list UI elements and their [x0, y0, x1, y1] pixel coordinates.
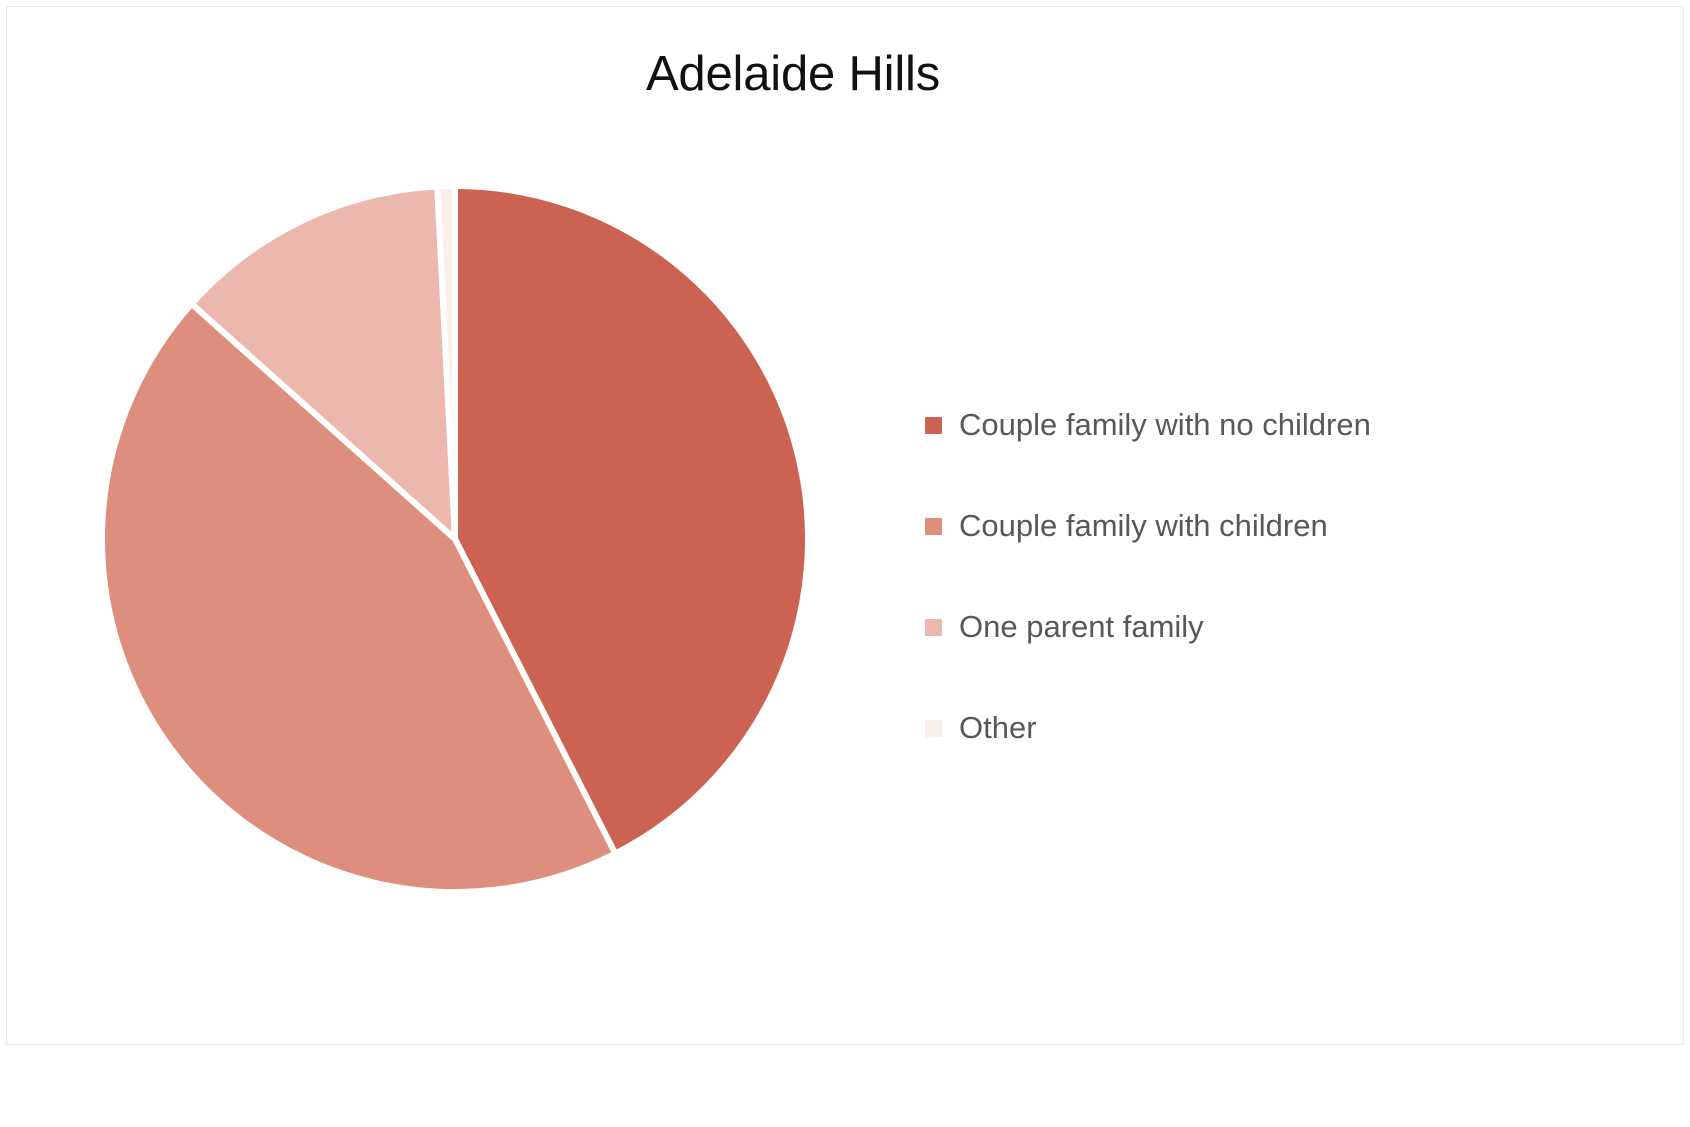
legend-swatch-icon	[925, 619, 942, 636]
chart-legend: Couple family with no childrenCouple fam…	[925, 375, 1565, 779]
chart-canvas: Adelaide Hills Couple family with no chi…	[6, 6, 1684, 1045]
chart-page: Adelaide Hills Couple family with no chi…	[0, 0, 1690, 1127]
chart-title: Adelaide Hills	[7, 45, 1579, 104]
pie-chart-plot-area: Couple family with no childrenCouple fam…	[100, 184, 810, 894]
legend-item[interactable]: One parent family	[925, 577, 1565, 678]
legend-item[interactable]: Couple family with no children	[925, 375, 1565, 476]
pie-chart-svg: Couple family with no childrenCouple fam…	[100, 184, 810, 894]
legend-item[interactable]: Other	[925, 678, 1565, 779]
legend-item-label: Couple family with children	[959, 509, 1328, 543]
legend-item-label: One parent family	[959, 610, 1204, 644]
legend-swatch-icon	[925, 518, 942, 535]
pie-slice-group: Couple family with no childrenCouple fam…	[102, 186, 808, 892]
legend-item-label: Other	[959, 711, 1037, 745]
legend-swatch-icon	[925, 720, 942, 737]
legend-swatch-icon	[925, 417, 942, 434]
legend-item-label: Couple family with no children	[959, 408, 1371, 442]
legend-item[interactable]: Couple family with children	[925, 476, 1565, 577]
